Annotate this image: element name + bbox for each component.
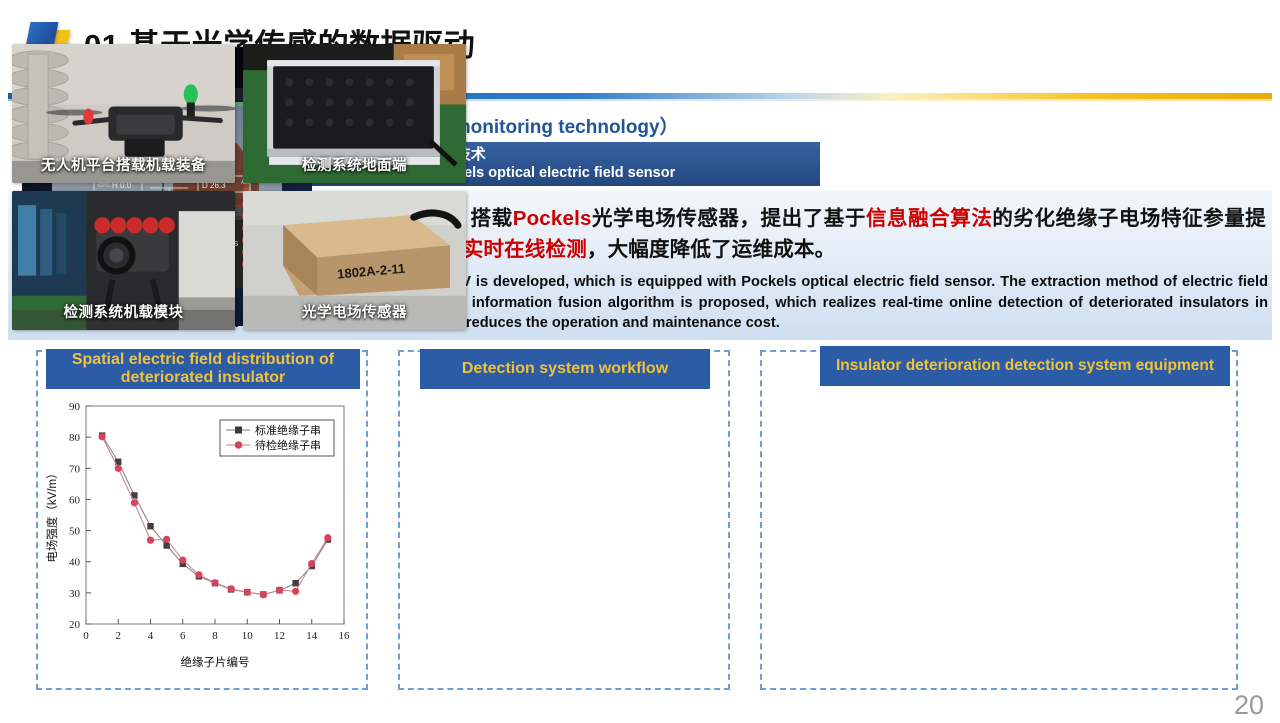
legend-label-standard: 标准绝缘子串	[255, 423, 321, 437]
data-point-s0-12	[292, 580, 298, 586]
paragraph-cn-part-8: ，大幅度降低了运维成本。	[587, 238, 835, 261]
data-point-s1-5	[179, 557, 186, 564]
equipment-caption-3: 光学电场传感器	[243, 301, 466, 322]
equipment-caption-0: 无人机平台搭载机载装备	[12, 154, 235, 175]
equipment-panel-title: Insulator deterioration detection system…	[820, 346, 1230, 386]
data-point-s1-7	[211, 579, 218, 586]
x-tick-8: 8	[212, 630, 218, 642]
workflow-panel-title: Detection system workflow	[420, 349, 710, 389]
data-point-s0-4	[163, 542, 169, 548]
data-point-s1-8	[228, 585, 235, 592]
y-tick-40: 40	[69, 557, 81, 569]
data-point-s1-13	[308, 560, 315, 567]
y-tick-60: 60	[69, 494, 81, 506]
x-tick-6: 6	[180, 630, 186, 642]
data-point-s1-1	[115, 465, 122, 472]
equipment-photo-ground-station: 检测系统地面端	[243, 44, 466, 183]
equipment-photo-optical-sensor: 1802A-2-11 光学电场传感器	[243, 191, 466, 330]
paragraph-cn-part-3: Pockels	[513, 207, 592, 230]
chart-svg: 2030405060708090 0246810121416 标准绝缘子串 待检…	[42, 394, 360, 684]
equipment-photo-airborne-module: 检测系统机载模块	[12, 191, 235, 330]
electric-field-chart: 2030405060708090 0246810121416 标准绝缘子串 待检…	[42, 394, 360, 684]
x-tick-10: 10	[242, 630, 254, 642]
paragraph-cn-part-5: 信息融合算法	[866, 207, 992, 230]
equipment-photo-uav: 无人机平台搭载机载装备	[12, 44, 235, 183]
legend-label-test: 待检绝缘子串	[255, 438, 321, 452]
data-point-s1-11	[276, 586, 283, 593]
data-point-s0-3	[147, 523, 153, 529]
x-tick-4: 4	[148, 630, 154, 642]
data-point-s1-4	[163, 536, 170, 543]
data-point-s1-2	[131, 499, 138, 506]
workflow-panel	[398, 350, 730, 690]
x-axis-label: 绝缘子片编号	[181, 655, 250, 669]
data-point-s1-12	[292, 588, 299, 595]
equipment-caption-2: 检测系统机载模块	[12, 301, 235, 322]
x-tick-14: 14	[306, 630, 318, 642]
x-tick-16: 16	[339, 630, 351, 642]
equipment-panel	[760, 350, 1238, 690]
equipment-photo-grid: 无人机平台搭载机载装备	[12, 44, 466, 330]
y-tick-20: 20	[69, 619, 81, 631]
y-tick-70: 70	[69, 463, 81, 475]
data-point-s1-9	[244, 589, 251, 596]
data-point-s1-3	[147, 537, 154, 544]
slide-root: 01 基于光学传感的数据驱动 Data-driven based on opti…	[0, 0, 1280, 723]
x-tick-2: 2	[116, 630, 122, 642]
data-point-s1-14	[324, 534, 331, 541]
paragraph-cn-part-4: 光学电场传感器，提出了基于	[592, 207, 866, 230]
x-tick-0: 0	[83, 630, 89, 642]
data-point-s1-0	[99, 433, 106, 440]
y-tick-30: 30	[69, 588, 81, 600]
y-tick-50: 50	[69, 526, 81, 538]
chart-legend: 标准绝缘子串 待检绝缘子串	[220, 420, 334, 456]
chart-panel-title: Spatial electric field distribution of d…	[46, 349, 360, 389]
y-tick-80: 80	[69, 432, 81, 444]
page-number: 20	[1234, 690, 1264, 721]
equipment-caption-1: 检测系统地面端	[243, 154, 466, 175]
y-tick-90: 90	[69, 401, 81, 413]
y-axis-label: 电场强度（kV/m）	[45, 467, 59, 562]
x-tick-12: 12	[274, 630, 285, 642]
data-point-s1-6	[195, 571, 202, 578]
data-point-s1-10	[260, 591, 267, 598]
